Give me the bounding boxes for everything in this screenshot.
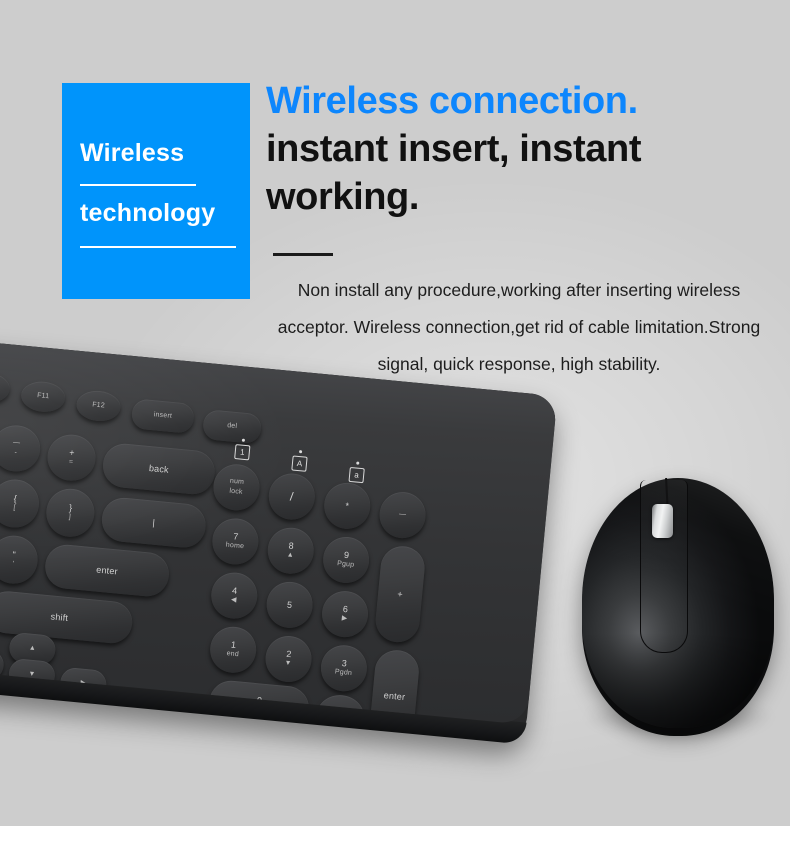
mouse-scroll-wheel-icon <box>652 504 673 538</box>
key-insert: insert <box>131 398 196 434</box>
key-numlock: num lock <box>211 462 261 512</box>
headline-line-2: instant insert, instant <box>266 125 766 173</box>
wireless-technology-badge: Wireless technology <box>62 83 250 299</box>
key-arrow-up: ▲ <box>8 632 57 666</box>
key-backslash: | <box>100 496 208 550</box>
badge-divider-2 <box>80 246 236 248</box>
wireless-keyboard: F9 F10 F11 F12 insert del ( 9 ) 0 — - + … <box>0 333 575 796</box>
wireless-mouse <box>578 470 778 742</box>
key-plus-equal: + = <box>45 433 97 483</box>
body-paragraph: Non install any procedure,working after … <box>266 272 772 383</box>
key-numpad-7: 7 home <box>210 516 260 566</box>
key-del-top: del <box>202 409 263 444</box>
led-dot-scrolllock <box>356 461 359 464</box>
key-f10: F10 <box>0 370 11 404</box>
key-numpad-divide: / <box>267 472 317 522</box>
badge-divider-1 <box>80 184 196 186</box>
headline-block: Wireless connection. instant insert, ins… <box>266 78 766 221</box>
key-bracket-right: } ] <box>44 487 96 539</box>
key-backspace: back <box>101 442 217 496</box>
key-f11: F11 <box>20 380 67 414</box>
indicator-scrolllock-icon: a <box>348 467 364 483</box>
body-divider <box>273 253 333 256</box>
keyboard-face: F9 F10 F11 F12 insert del ( 9 ) 0 — - + … <box>0 333 557 725</box>
promo-banner: Wireless technology Wireless connection.… <box>0 0 790 842</box>
indicator-capslock-icon: A <box>291 455 307 471</box>
key-numpad-1: 1 end <box>208 625 258 675</box>
key-numpad-9: 9 Pgup <box>321 535 371 585</box>
badge-line-1: Wireless <box>80 139 184 168</box>
key-numpad-minus: — <box>378 490 428 540</box>
key-enter: enter <box>43 543 171 598</box>
key-numpad-plus: + <box>374 544 427 644</box>
key-f12: F12 <box>75 389 122 423</box>
key-bracket-left: { [ <box>0 477 41 529</box>
key-numpad-multiply: * <box>322 481 372 531</box>
key-numpad-6: 6 ▶ <box>320 589 370 639</box>
key-shift: shift <box>0 589 134 645</box>
key-numpad-3: 3 Pgdn <box>319 643 369 693</box>
led-dot-capslock <box>299 450 302 453</box>
indicator-numlock-icon: 1 <box>234 444 250 460</box>
bottom-white-strip <box>0 826 790 842</box>
badge-line-2: technology <box>80 199 215 228</box>
key-numpad-5: 5 <box>265 580 315 630</box>
key-numpad-8: 8 ▲ <box>266 526 316 576</box>
key-quote: " ' <box>0 534 40 586</box>
key-minus: — - <box>0 423 42 473</box>
led-dot-numlock <box>242 439 245 442</box>
headline-line-1: Wireless connection. <box>266 78 766 125</box>
key-numpad-2: 2 ▼ <box>263 634 313 684</box>
key-numpad-4: 4 ◀ <box>209 571 259 621</box>
headline-line-3: working. <box>266 173 766 221</box>
